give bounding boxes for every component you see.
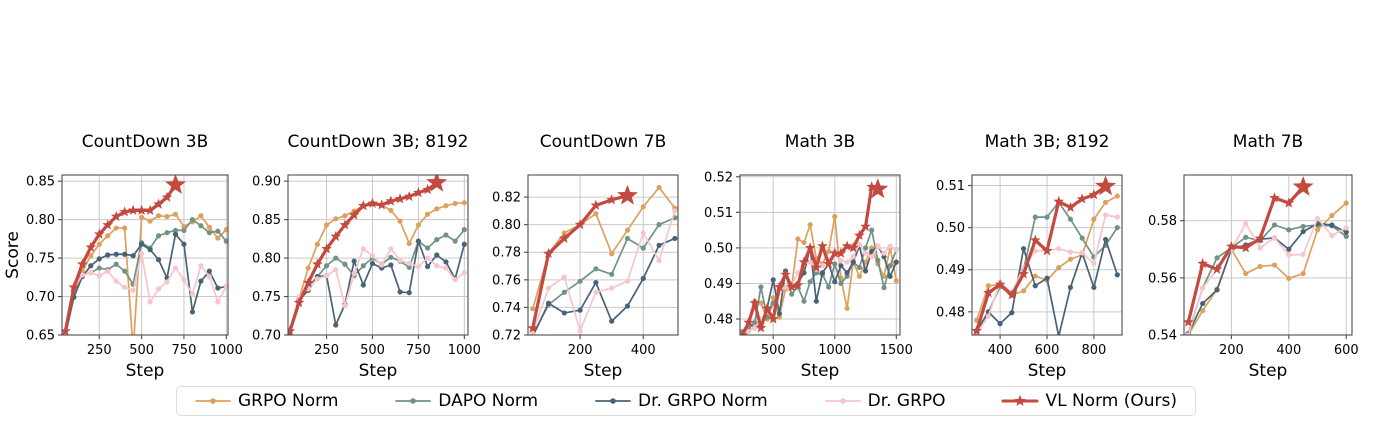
data-point-marker [1301,229,1306,234]
y-tick-label: 0.56 [1148,271,1177,286]
data-point-marker [1329,222,1334,227]
data-point-marker [1315,216,1320,221]
data-point-marker [1243,221,1248,226]
plot-frame [1184,175,1352,335]
series-line-dr-grpo-norm [1188,224,1346,334]
legend-line-marker-icon [395,393,431,409]
data-point-marker [1344,225,1349,230]
legend-label: Dr. GRPO [868,391,946,411]
x-tick-label: 400 [1276,343,1301,358]
data-point-marker [1214,287,1219,292]
data-point-marker [1301,252,1306,257]
legend-item-dr-grpo-norm[interactable]: Dr. GRPO Norm [595,391,768,411]
legend-label: VL Norm (Ours) [1045,391,1177,411]
data-point-marker [1286,276,1291,281]
figure-root: CountDown 3B0.650.700.750.800.8525050075… [0,0,1376,423]
x-tick-label: 200 [1219,343,1244,358]
series-line-dr-grpo [1188,218,1346,335]
data-point-marker [1200,301,1205,306]
legend-item-dapo-norm[interactable]: DAPO Norm [395,391,538,411]
data-point-marker [1315,227,1320,232]
data-point-marker [1329,233,1334,238]
series-line-dapo-norm [1188,225,1346,334]
data-point-marker [1286,247,1291,252]
data-point-marker [1272,222,1277,227]
data-point-marker [1214,255,1219,260]
legend-item-vl-norm-ours[interactable]: VL Norm (Ours) [1002,391,1177,411]
data-point-marker [1258,245,1263,250]
chart-panel-6: Math 7B0.540.560.58200400600Step [0,0,1376,423]
data-point-marker [1286,252,1291,257]
data-point-marker [1272,235,1277,240]
data-point-marker [1286,227,1291,232]
legend-star-marker-icon [1002,393,1038,409]
data-point-marker [1243,271,1248,276]
data-point-marker [1258,264,1263,269]
data-point-marker [1272,262,1277,267]
legend-item-dr-grpo[interactable]: Dr. GRPO [825,391,946,411]
legend-label: DAPO Norm [438,391,538,411]
data-point-marker [1200,285,1205,290]
legend-line-marker-icon [595,393,631,409]
legend-line-marker-icon [195,393,231,409]
data-point-marker [1301,271,1306,276]
legend-label: GRPO Norm [238,391,338,411]
data-point-marker [1329,213,1334,218]
legend-label: Dr. GRPO Norm [638,391,768,411]
y-tick-label: 0.54 [1148,329,1177,344]
legend-item-grpo-norm[interactable]: GRPO Norm [195,391,338,411]
data-point-marker [1344,200,1349,205]
x-axis-label: Step [1249,361,1288,381]
x-tick-label: 600 [1334,343,1359,358]
legend-line-marker-icon [825,393,861,409]
y-tick-label: 0.58 [1148,214,1177,229]
chart-legend: GRPO NormDAPO NormDr. GRPO NormDr. GRPOV… [176,386,1196,416]
data-point-marker [1243,235,1248,240]
data-point-marker [1301,224,1306,229]
panel-title: Math 7B [1233,132,1303,152]
